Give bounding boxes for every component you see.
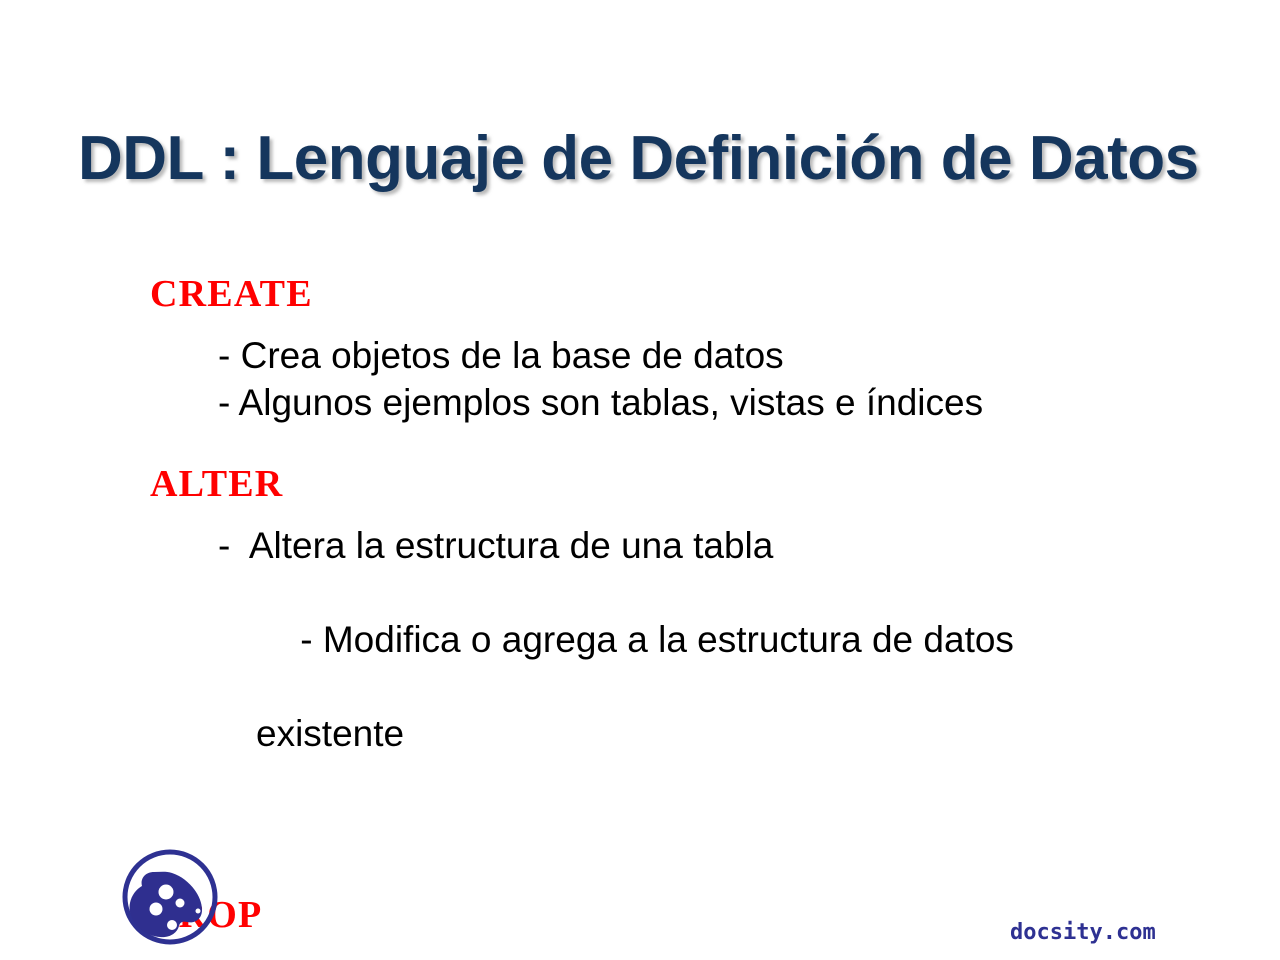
slide-canvas: DDL : Lenguaje de Definición de Datos CR… [0, 0, 1280, 960]
docsity-logo-icon [118, 845, 222, 949]
bullet-create-1: - Crea objetos de la base de datos [218, 332, 1280, 379]
section-create: CREATE - Crea objetos de la base de dato… [0, 272, 1280, 426]
keyword-create: CREATE [150, 272, 1280, 316]
spacer [0, 426, 1280, 462]
page-title: DDL : Lenguaje de Definición de Datos [78, 122, 1208, 196]
section-alter: ALTER - Altera la estructura de una tabl… [0, 462, 1280, 851]
bullet-alter-1: - Altera la estructura de una tabla [218, 522, 1280, 569]
docsity-watermark: docsity.com [1010, 920, 1156, 945]
bullet-create-2: - Algunos ejemplos son tablas, vistas e … [218, 379, 1280, 426]
bullet-drop-1: - Elimina objetos de la base de datos [218, 953, 1280, 960]
bullet-alter-2-line1: - Modifica o agrega a la estructura de d… [300, 619, 1014, 660]
bullet-alter-2-line2: existente [256, 710, 1280, 757]
spacer [0, 506, 1280, 522]
bullet-alter-2: - Modifica o agrega a la estructura de d… [218, 569, 1280, 851]
keyword-alter: ALTER [150, 462, 1280, 506]
spacer [0, 316, 1280, 332]
